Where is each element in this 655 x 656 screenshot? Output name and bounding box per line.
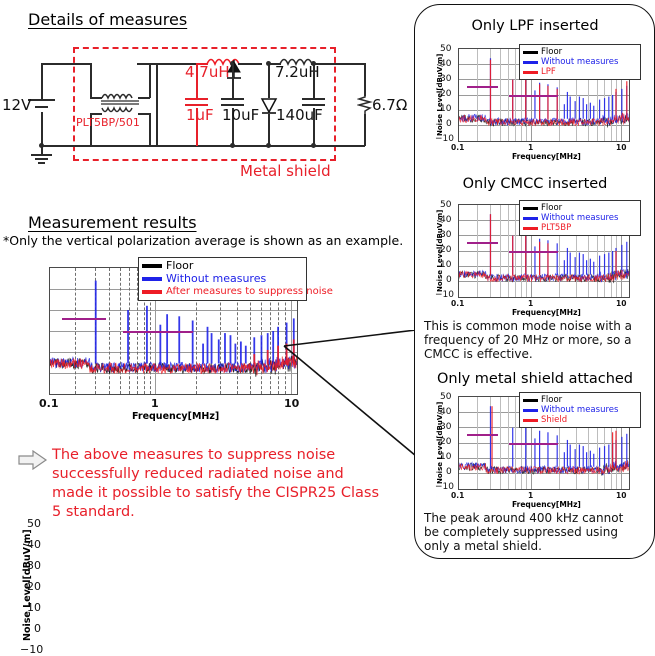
main-chart-ylabel: Noise Level[dBuV/m] [22,529,33,641]
y-tick-minus10: −10 [20,643,43,656]
sub-chart-2-legend: Floor Without measures PLT5BP [519,200,641,236]
y-tick-50: 50 [440,200,451,210]
sub-chart-2-caption: This is common mode noise with a frequen… [424,320,639,362]
legend-swatch-floor [142,264,162,268]
wire-left-vertical-lower [41,112,43,146]
resistor-symbol [357,94,373,116]
legend-swatch-plt5bp [523,227,538,230]
x-tick-0p1: 0.1 [451,299,464,308]
legend-swatch-floor [523,207,538,210]
limit-line-26db [62,318,106,320]
limit-line-20db [509,251,558,253]
legend-label: Without measures [166,273,266,286]
sub-chart-2-xlabel: Frequency[MHz] [512,308,581,317]
wire-load-right-bot [364,114,366,146]
wire-cmcc-bot-out [90,145,150,147]
cap1-label: 1uF [186,106,214,124]
wire-diode-bot [268,114,270,146]
sub-chart-1-legend: Floor Without measures LPF [519,44,641,80]
legend-row: After measures to suppress noise [142,286,302,298]
x-tick-0p1: 0.1 [451,143,464,152]
limit-line-26db [467,86,498,88]
sub-chart-3-caption: The peak around 400 kHz cannot be comple… [424,512,642,554]
legend-swatch-without [523,409,538,412]
legend-row: LPF [523,67,636,77]
x-tick-10: 10 [616,299,626,308]
legend-label: Floor [541,395,562,405]
limit-line-26db [467,242,498,244]
legend-swatch-without [523,217,538,220]
main-chart-xlabel: Frequency[MHz] [132,411,219,422]
y-tick-50: 50 [440,392,451,402]
node-bottom-left [39,143,44,148]
x-tick-10: 10 [616,143,626,152]
battery-symbol [28,99,55,113]
limit-line-20db [509,95,558,97]
main-chart-legend: Floor Without measures After measures to… [138,257,307,301]
wire-cmcc-left-top [90,63,92,98]
main-chart: 50 40 30 20 10 0 −10 Noise Level[dBuV/m] [12,255,302,415]
limit-line-26db [467,434,498,436]
node-diode-bottom [266,143,271,148]
sub-chart-3-title: Only metal shield attached [424,371,646,387]
legend-label: Without measures [541,213,618,223]
legend-label: After measures to suppress noise [166,286,333,298]
wire-cmcc-right-bot [149,113,151,145]
legend-label: LPF [541,67,556,77]
legend-swatch-lpf [523,71,538,74]
wire-top-left [41,63,91,65]
legend-label: Without measures [541,57,618,67]
x-tick-1: 1 [528,491,533,500]
limit-line-20db [509,443,558,445]
legend-row: Without measures [523,213,636,223]
sub-chart-1-ylabel: Noise Level[dBuV/m] [436,54,444,136]
source-voltage-label: 12V [2,96,31,114]
legend-row: Without measures [523,405,636,415]
ground-symbol [31,154,52,164]
legend-swatch-without [142,277,162,281]
legend-swatch-floor [523,51,538,54]
sub-chart-1: 50 40 30 20 10 0 −10 Noise Level[dBuV/m]… [424,40,642,165]
sub-chart-2-ylabel: Noise Level[dBuV/m] [436,210,444,292]
wire-left-vertical [41,63,43,99]
legend-label: Floor [541,203,562,213]
metal-shield-label: Metal shield [240,162,331,180]
cmcc-part-label: PLT5BP/501 [76,116,140,129]
node-cap2-bottom [230,143,235,148]
y-tick-50: 50 [440,44,451,54]
legend-row: Shield [523,415,636,425]
conclusion-text: The above measures to suppress noise suc… [52,446,382,521]
legend-label: Without measures [541,405,618,415]
legend-swatch-shield [523,419,538,422]
wire-diode-top [268,63,270,98]
y-tick-0: 0 [34,622,41,635]
measurement-results-title: Measurement results [28,213,197,232]
wire-top-rail-a [137,63,157,65]
limit-line-20db [123,331,193,333]
legend-label: Shield [541,415,567,425]
wire-load-bottom [313,145,365,147]
callout-pointer [280,330,420,460]
legend-row: Floor [523,395,636,405]
conclusion-block: The above measures to suppress noise suc… [52,446,382,521]
sub-chart-2: 50 40 30 20 10 0 −10 Noise Level[dBuV/m]… [424,196,642,321]
cap2-label: 10uF [222,106,259,124]
x-tick-1: 1 [528,299,533,308]
circuit-diagram: 12V PLT5BP/501 1uF 4.7uH [0,0,410,200]
wire-node-a-down [156,63,158,145]
x-tick-10: 10 [616,491,626,500]
wire-cap3-stem-top [313,63,315,98]
legend-row: Floor [523,47,636,57]
wire-load-top [313,63,365,65]
x-tick-1: 1 [528,143,533,152]
x-tick-0p1: 0.1 [39,397,59,410]
wire-bottom-rail [149,145,333,147]
x-tick-0p1: 0.1 [451,491,464,500]
x-tick-1: 1 [151,397,159,410]
cmcc-choke-symbol [100,86,140,120]
sub-chart-3-legend: Floor Without measures Shield [519,392,641,428]
legend-label: Floor [541,47,562,57]
legend-label: PLT5BP [541,223,571,233]
sub-chart-3-ylabel: Noise Level[dBuV/m] [436,402,444,484]
legend-row: PLT5BP [523,223,636,233]
legend-row: Floor [523,203,636,213]
sub-chart-1-xlabel: Frequency[MHz] [512,152,581,161]
legend-swatch-without [523,61,538,64]
measurement-results-note: *Only the vertical polarization average … [3,233,403,248]
wire-load-right-top [364,63,366,96]
y-tick-0: 0 [446,467,452,477]
y-tick-50: 50 [27,517,41,530]
wire-bottom-left [41,145,91,147]
conclusion-arrow-icon [18,450,48,470]
sub-chart-1-title: Only LPF inserted [440,18,630,34]
sub-chart-2-title: Only CMCC inserted [440,176,630,192]
wire-cmcc-right-top [149,63,151,98]
mosfet-symbol [222,60,246,86]
wire-cap2-stem-top [232,63,234,98]
sub-chart-3: 50 40 30 20 10 0 −10 Noise Level[dBuV/m]… [424,388,642,513]
legend-swatch-after [142,290,162,294]
load-label: 6.7Ω [372,96,407,114]
legend-swatch-floor [523,399,538,402]
legend-row: Without measures [142,273,302,286]
cap3-label: 140uF [276,106,323,124]
legend-row: Without measures [523,57,636,67]
sub-chart-3-xlabel: Frequency[MHz] [512,500,581,509]
y-tick-0: 0 [446,119,452,129]
y-tick-0: 0 [446,275,452,285]
